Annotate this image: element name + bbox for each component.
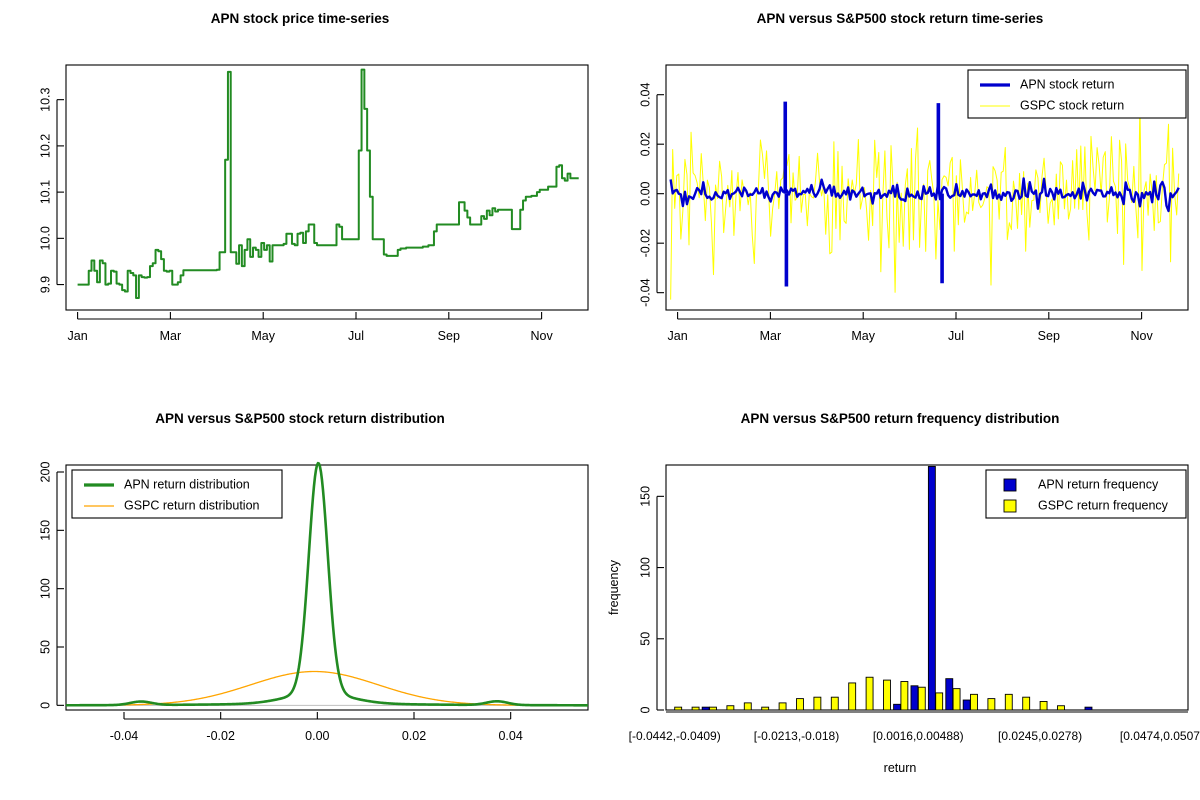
freq-y-tick-label: 100 (638, 557, 652, 578)
freq-bar (901, 682, 908, 710)
freq-bar (762, 707, 769, 710)
return-ts-y-tick-label: -0.02 (638, 229, 652, 258)
freq-bar (831, 697, 838, 710)
freq-bar (928, 466, 935, 710)
return-ts-series-1 (671, 102, 1179, 300)
freq-bar (936, 693, 943, 710)
freq-bar (849, 683, 856, 710)
freq-bar (866, 677, 873, 710)
freq-bar (911, 686, 918, 710)
panel-title-apn-price: APN stock price time-series (211, 11, 390, 26)
return-ts-x-tick-label: Sep (1038, 329, 1060, 343)
freq-bar (971, 694, 978, 710)
freq-bar (744, 703, 751, 710)
apn-price-y-tick-label: 10.0 (38, 226, 52, 250)
apn-price-x-tick-label: May (251, 329, 275, 343)
freq-bar (918, 687, 925, 710)
return-frequency-plot-area: 050100150[-0.0442,-0.0409)[-0.0213,-0.01… (607, 465, 1200, 775)
freq-bin-label: [0.0245,0.0278) (998, 729, 1082, 743)
freq-bar (702, 707, 709, 710)
density-legend-entry-label: GSPC return distribution (124, 498, 260, 512)
density-x-tick-label: 0.00 (305, 729, 329, 743)
density-x-tick-label: 0.04 (498, 729, 522, 743)
freq-bin-label: [-0.0213,-0.018) (754, 729, 839, 743)
freq-bar (692, 707, 699, 710)
freq-bar (953, 689, 960, 710)
freq-bar (1005, 694, 1012, 710)
freq-legend-entry-label: APN return frequency (1038, 477, 1159, 491)
panel-return-distribution: APN versus S&P500 stock return distribut… (0, 400, 600, 800)
apn-price-chart: APN stock price time-series 9.910.010.11… (0, 0, 600, 400)
density-x-tick-label: -0.04 (110, 729, 139, 743)
return-ts-y-tick-label: -0.04 (638, 278, 652, 307)
freq-bar (963, 700, 970, 710)
panel-title-return-frequency: APN versus S&P500 return frequency distr… (741, 411, 1060, 426)
freq-bar (797, 699, 804, 710)
freq-bar (1058, 706, 1065, 710)
density-y-tick-label: 200 (38, 462, 52, 483)
panel-title-return-timeseries: APN versus S&P500 stock return time-seri… (757, 11, 1044, 26)
apn-price-x-tick-label: Nov (530, 329, 553, 343)
apn-price-series-line (78, 70, 579, 298)
freq-bin-label: [0.0016,0.00488) (873, 729, 964, 743)
return-ts-y-tick-label: 0.04 (638, 82, 652, 106)
return-timeseries-plot-area: -0.04-0.020.000.020.04JanMarMayJulSepNov… (638, 65, 1188, 343)
return-ts-x-tick-label: Nov (1130, 329, 1153, 343)
freq-bar (884, 680, 891, 710)
freq-bar (988, 699, 995, 710)
freq-bar (946, 679, 953, 710)
return-timeseries-chart: APN versus S&P500 stock return time-seri… (600, 0, 1200, 400)
freq-y-axis-title: frequency (607, 559, 621, 615)
apn-price-y-tick-label: 10.1 (38, 180, 52, 204)
density-series-line (66, 672, 588, 706)
apn-price-x-tick-label: Mar (160, 329, 182, 343)
freq-bar (894, 704, 901, 710)
apn-price-plot-area: 9.910.010.110.210.3JanMarMayJulSepNov (38, 65, 588, 343)
freq-y-tick-label: 0 (638, 706, 652, 713)
return-distribution-plot-area: 050100150200-0.04-0.020.000.020.04APN re… (38, 462, 588, 743)
apn-price-y-tick-label: 10.3 (38, 87, 52, 111)
freq-y-tick-label: 150 (638, 486, 652, 507)
freq-bar (1040, 701, 1047, 710)
freq-bin-label: [0.0474,0.0507) (1120, 729, 1200, 743)
return-ts-legend-entry-label: GSPC stock return (1020, 98, 1124, 112)
return-ts-legend-entry-label: APN stock return (1020, 77, 1115, 91)
panel-title-return-distribution: APN versus S&P500 stock return distribut… (155, 411, 445, 426)
apn-price-x-tick-label: Jul (348, 329, 364, 343)
apn-price-y-tick-label: 10.2 (38, 134, 52, 158)
freq-bar (727, 706, 734, 710)
density-x-tick-label: 0.02 (402, 729, 426, 743)
freq-bar (710, 707, 717, 710)
freq-y-tick-label: 50 (638, 632, 652, 646)
density-y-tick-label: 50 (38, 640, 52, 654)
return-ts-x-tick-label: Jan (668, 329, 688, 343)
return-ts-y-tick-label: 0.00 (638, 181, 652, 205)
freq-legend-swatch-square (1004, 500, 1016, 512)
apn-price-x-tick-label: Jan (68, 329, 88, 343)
apn-price-y-tick-label: 9.9 (38, 276, 52, 293)
density-x-tick-label: -0.02 (206, 729, 235, 743)
density-y-tick-label: 0 (38, 702, 52, 709)
density-y-tick-label: 100 (38, 578, 52, 599)
return-ts-x-tick-label: Mar (760, 329, 782, 343)
density-y-tick-label: 150 (38, 520, 52, 541)
plot-box (66, 65, 588, 310)
freq-bar (675, 707, 682, 710)
return-ts-x-tick-label: Jul (948, 329, 964, 343)
panel-apn-price-timeseries: APN stock price time-series 9.910.010.11… (0, 0, 600, 400)
panel-return-timeseries: APN versus S&P500 stock return time-seri… (600, 0, 1200, 400)
freq-bar (1023, 697, 1030, 710)
freq-legend-entry-label: GSPC return frequency (1038, 498, 1169, 512)
return-ts-x-tick-label: May (851, 329, 875, 343)
apn-price-x-tick-label: Sep (438, 329, 460, 343)
return-ts-y-tick-label: 0.02 (638, 132, 652, 156)
density-legend-entry-label: APN return distribution (124, 477, 250, 491)
freq-bar (814, 697, 821, 710)
freq-legend-swatch-square (1004, 479, 1016, 491)
return-frequency-chart: APN versus S&P500 return frequency distr… (600, 400, 1200, 800)
figure-canvas: APN stock price time-series 9.910.010.11… (0, 0, 1200, 800)
return-distribution-chart: APN versus S&P500 stock return distribut… (0, 400, 600, 800)
freq-bar (779, 703, 786, 710)
freq-bar (1085, 707, 1092, 710)
panel-return-frequency: APN versus S&P500 return frequency distr… (600, 400, 1200, 800)
freq-bin-label: [-0.0442,-0.0409) (629, 729, 721, 743)
freq-x-axis-title: return (884, 761, 917, 775)
